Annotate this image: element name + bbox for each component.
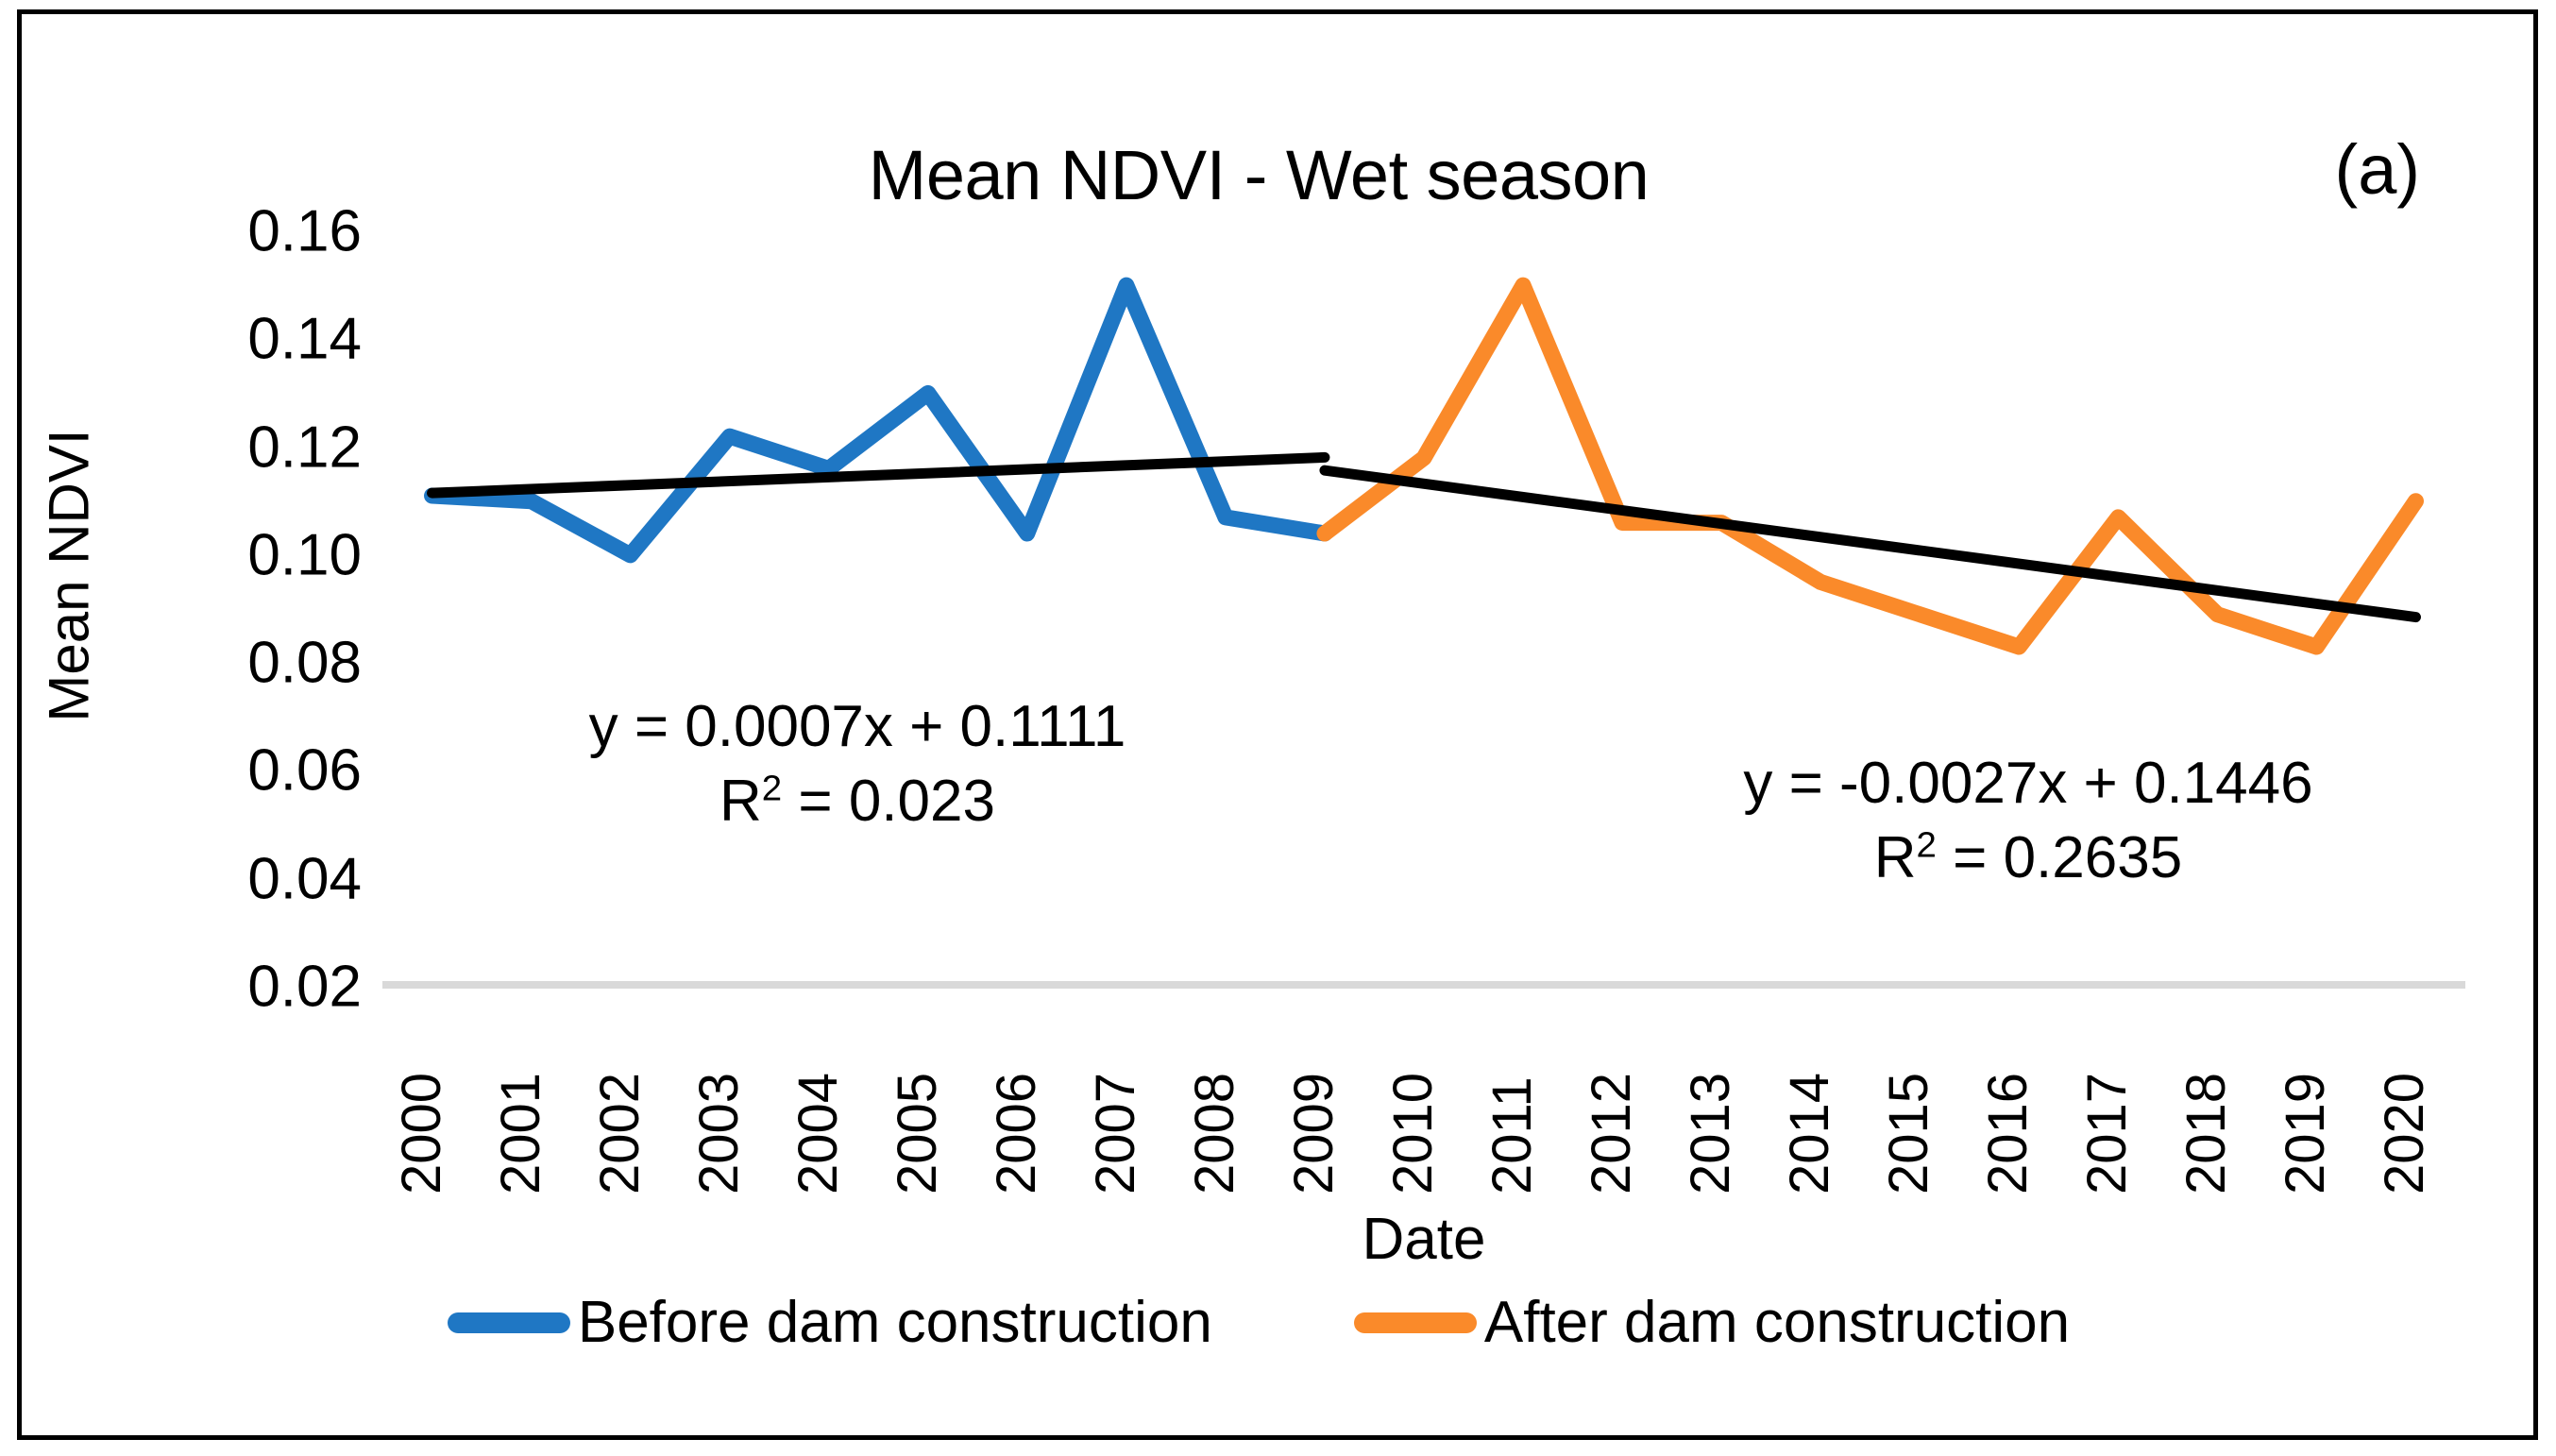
legend-item-label: Before dam construction [578, 1289, 1212, 1356]
r2-value-before: = 0.023 [782, 769, 995, 834]
r2-value-after: = 0.2635 [1937, 825, 2182, 890]
legend-color-swatch [1354, 1312, 1477, 1333]
legend-item-label: After dam construction [1484, 1289, 2070, 1356]
trend-r2-before: R2 = 0.023 [484, 764, 1230, 838]
x-axis-tick-label: 2012 [1580, 1073, 1643, 1194]
x-axis-tick-label: 2017 [2075, 1073, 2139, 1194]
x-axis-tick-label: 2008 [1183, 1073, 1246, 1194]
r2-label-after: R [1874, 825, 1917, 890]
x-axis-tick-label: 2019 [2274, 1073, 2337, 1194]
y-axis-title: Mean NDVI [37, 387, 102, 765]
legend-color-swatch [448, 1312, 570, 1333]
x-axis-tick-label: 2014 [1778, 1073, 1841, 1194]
trend-r2-after: R2 = 0.2635 [1646, 821, 2411, 895]
x-axis-tick-labels: 2000200120022003200420052006200720082009… [382, 996, 2465, 1194]
x-axis-title: Date [382, 1206, 2465, 1273]
x-axis-tick-label: 2005 [886, 1073, 949, 1194]
y-axis-tick-label: 0.10 [135, 521, 362, 588]
x-axis-tick-label: 2013 [1679, 1073, 1742, 1194]
y-axis-tick-label: 0.14 [135, 306, 362, 373]
x-axis-tick-label: 2000 [390, 1073, 453, 1194]
x-axis-tick-label: 2006 [985, 1073, 1048, 1194]
panel-label: (a) [2335, 129, 2420, 210]
figure-root: Mean NDVI - Wet season (a) Mean NDVI 0.1… [0, 0, 2556, 1456]
y-axis-tick-label: 0.16 [135, 198, 362, 265]
y-axis-tick-label: 0.12 [135, 414, 362, 481]
x-axis-tick-label: 2009 [1282, 1073, 1346, 1194]
trendline-annotation-before: y = 0.0007x + 0.1111 R2 = 0.023 [484, 689, 1230, 839]
x-axis-tick-label: 2015 [1877, 1073, 1940, 1194]
x-axis-tick-label: 2004 [787, 1073, 850, 1194]
x-axis-tick-label: 2003 [687, 1073, 751, 1194]
x-axis-tick-label: 2018 [2175, 1073, 2238, 1194]
x-axis-tick-label: 2002 [588, 1073, 652, 1194]
y-axis-tick-label: 0.06 [135, 737, 362, 804]
x-axis-tick-label: 2020 [2373, 1073, 2436, 1194]
chart-legend: Before dam constructionAfter dam constru… [22, 1289, 2496, 1356]
x-axis-tick-label: 2011 [1481, 1076, 1544, 1194]
trendline [432, 457, 1325, 493]
r2-label-before: R [719, 769, 762, 834]
y-axis-tick-label: 0.08 [135, 630, 362, 697]
y-axis-tick-label: 0.04 [135, 845, 362, 912]
figure-frame: Mean NDVI - Wet season (a) Mean NDVI 0.1… [17, 9, 2538, 1440]
trend-equation-after: y = -0.0027x + 0.1446 [1646, 746, 2411, 821]
x-axis-tick-label: 2001 [489, 1073, 552, 1194]
x-axis-tick-label: 2016 [1976, 1073, 2040, 1194]
y-axis-tick-label: 0.02 [135, 954, 362, 1021]
legend-item[interactable]: After dam construction [1354, 1289, 2070, 1356]
chart-title: Mean NDVI - Wet season [22, 135, 2496, 215]
y-axis-tick-labels: 0.160.140.120.100.080.060.040.02 [126, 14, 362, 1053]
x-axis-tick-label: 2010 [1381, 1073, 1445, 1194]
x-axis-tick-label: 2007 [1084, 1073, 1147, 1194]
r2-exponent-before: 2 [762, 769, 782, 809]
trend-equation-before: y = 0.0007x + 0.1111 [484, 689, 1230, 764]
r2-exponent-after: 2 [1917, 825, 1937, 866]
trendline-annotation-after: y = -0.0027x + 0.1446 R2 = 0.2635 [1646, 746, 2411, 896]
legend-item[interactable]: Before dam construction [448, 1289, 1212, 1356]
data-series-line [432, 285, 1325, 555]
x-axis-baseline [382, 981, 2465, 989]
